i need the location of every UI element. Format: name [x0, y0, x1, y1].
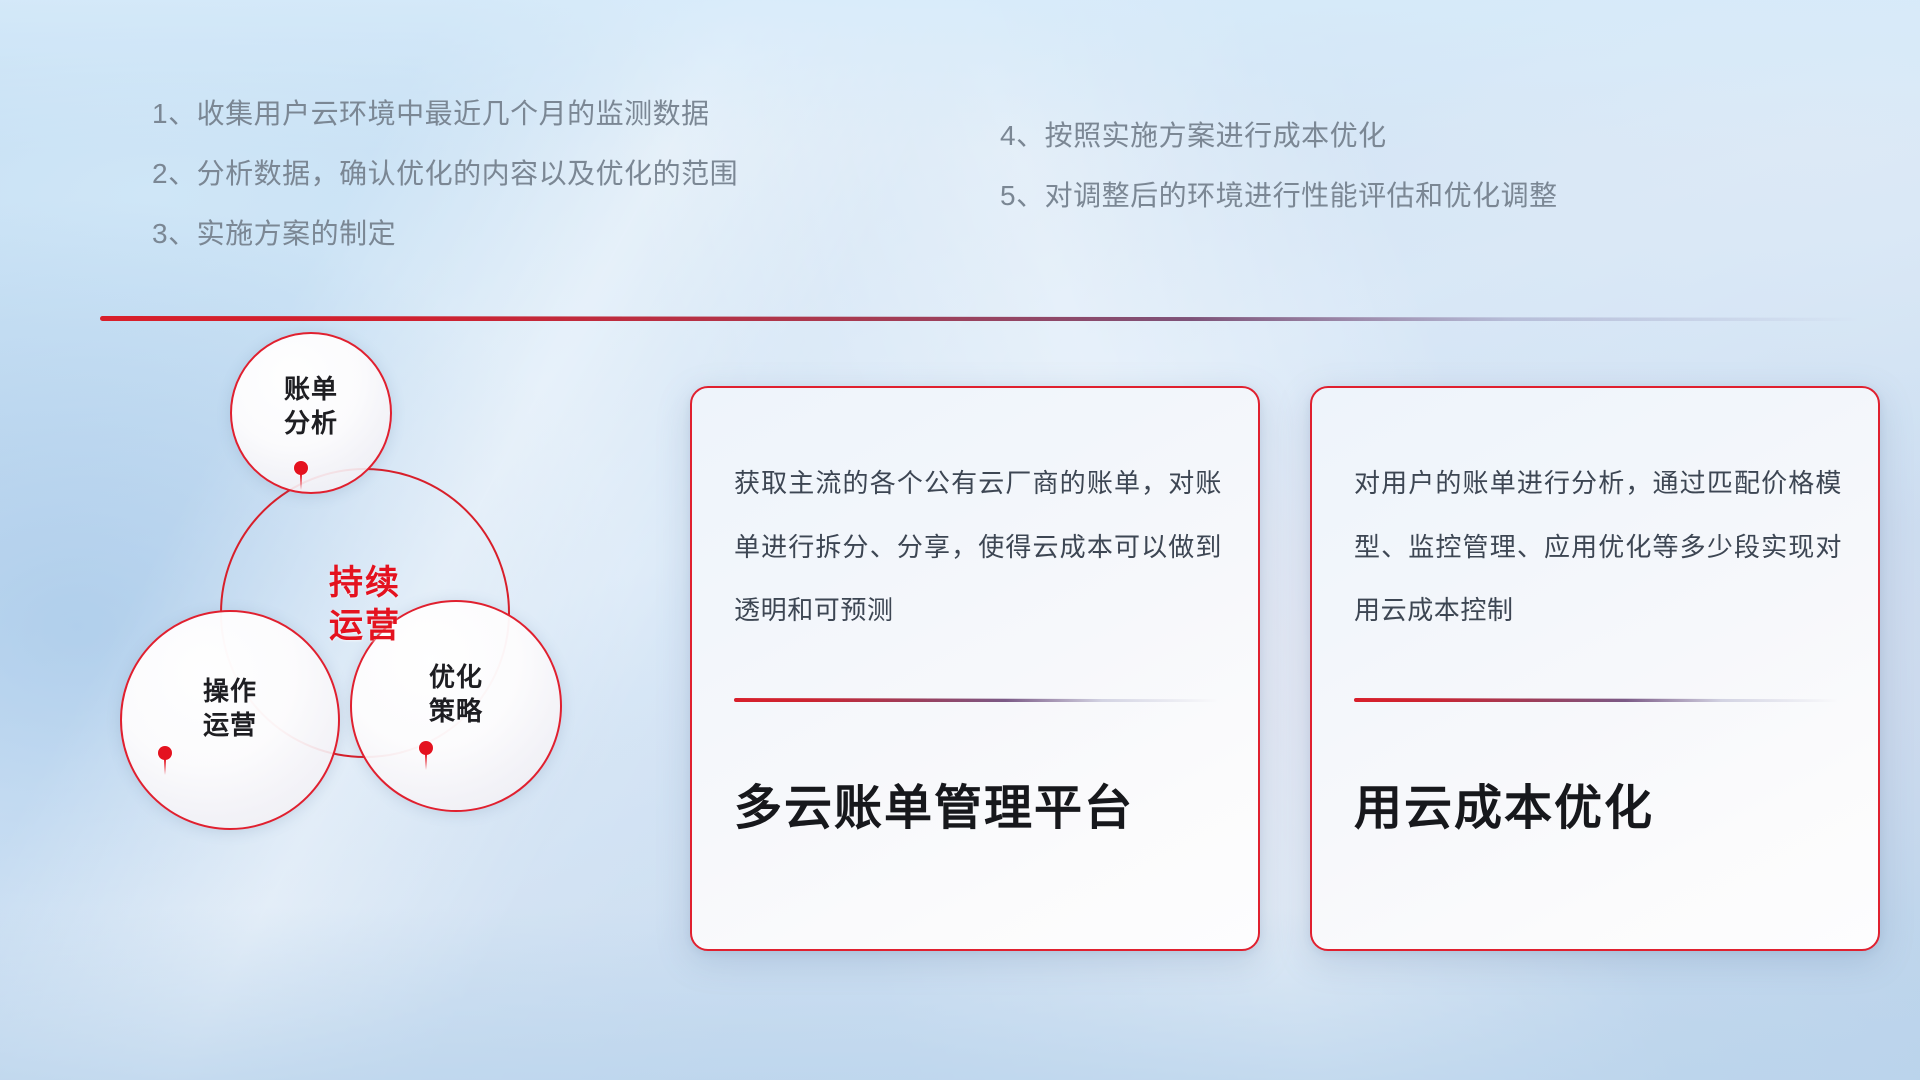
process-left-column: 1、收集用户云环境中最近几个月的监测数据 2、分析数据，确认优化的内容以及优化的… — [152, 100, 738, 248]
card-cloud-cost-optimization[interactable]: 对用户的账单进行分析，通过匹配价格模型、监控管理、应用优化等多少段实现对用云成本… — [1310, 386, 1880, 951]
process-step-2: 2、分析数据，确认优化的内容以及优化的范围 — [152, 160, 738, 188]
card-2-title: 用云成本优化 — [1354, 780, 1842, 838]
process-step-1: 1、收集用户云环境中最近几个月的监测数据 — [152, 100, 738, 128]
venn-center-line2: 运营 — [329, 607, 401, 645]
venn-node-dot-bottom-left — [158, 746, 172, 760]
venn-diagram: 操作 运营 优化 策略 账单 分析 持续 运营 — [100, 350, 630, 950]
venn-circle-optimization-line1: 优化 — [429, 662, 483, 692]
card-1-title: 多云账单管理平台 — [734, 780, 1222, 838]
venn-circle-operation-line1: 操作 — [203, 676, 257, 706]
card-1-divider — [734, 698, 1218, 702]
process-step-5: 5、对调整后的环境进行性能评估和优化调整 — [1000, 182, 1558, 210]
venn-node-tick-bottom-right — [425, 754, 427, 770]
venn-circle-bill-line2: 分析 — [284, 408, 338, 438]
venn-node-dot-top — [294, 461, 308, 475]
venn-node-tick-bottom-left — [164, 759, 166, 775]
venn-circle-bill-analysis[interactable]: 账单 分析 — [230, 332, 392, 494]
process-step-3: 3、实施方案的制定 — [152, 220, 738, 248]
venn-circle-bill-line1: 账单 — [284, 374, 338, 404]
process-step-4: 4、按照实施方案进行成本优化 — [1000, 122, 1558, 150]
card-1-body: 获取主流的各个公有云厂商的账单，对账单进行拆分、分享，使得云成本可以做到透明和可… — [734, 452, 1222, 643]
process-right-column: 4、按照实施方案进行成本优化 5、对调整后的环境进行性能评估和优化调整 — [1000, 122, 1558, 210]
card-2-divider — [1354, 698, 1838, 702]
venn-node-tick-top — [300, 474, 302, 490]
venn-node-dot-bottom-right — [419, 741, 433, 755]
venn-circle-operation-line2: 运营 — [203, 710, 257, 740]
venn-center-label: 持续 运营 — [100, 562, 630, 647]
venn-center-line1: 持续 — [329, 564, 401, 602]
venn-circle-optimization-line2: 策略 — [429, 696, 483, 726]
card-multi-cloud-bill-platform[interactable]: 获取主流的各个公有云厂商的账单，对账单进行拆分、分享，使得云成本可以做到透明和可… — [690, 386, 1260, 951]
card-2-body: 对用户的账单进行分析，通过匹配价格模型、监控管理、应用优化等多少段实现对用云成本… — [1354, 452, 1842, 643]
